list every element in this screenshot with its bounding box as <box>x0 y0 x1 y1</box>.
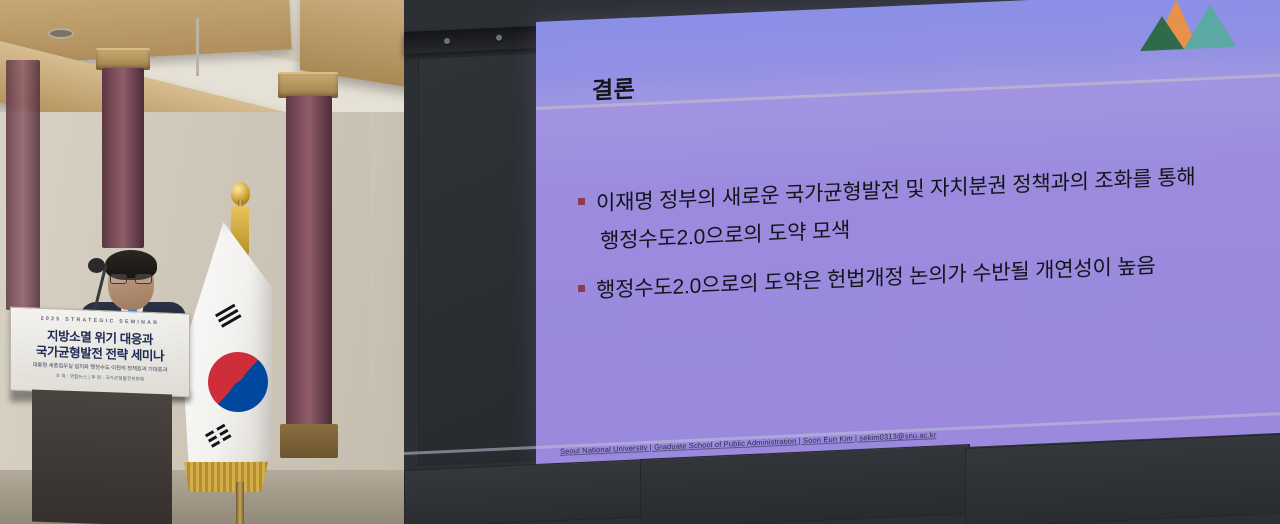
frame-screw <box>444 38 450 44</box>
ceiling-downlight <box>48 28 74 39</box>
bullet-1-text: 이재명 정부의 새로운 국가균형발전 및 자치분권 정책과의 조화를 통해 행정… <box>596 159 1196 262</box>
flag-cloth <box>182 222 272 474</box>
slide-bullet-1: 이재명 정부의 새로운 국가균형발전 및 자치분권 정책과의 조화를 통해 행정… <box>578 159 1196 263</box>
flag-stand-shaft <box>236 482 244 524</box>
slide-body: 이재명 정부의 새로운 국가균형발전 및 자치분권 정책과의 조화를 통해 행정… <box>536 77 1280 466</box>
glasses-lens-right <box>135 274 152 284</box>
bullet-marker-icon <box>578 285 585 292</box>
podium-banner: 2025 STRATEGIC SEMINAR 지방소멸 위기 대응과 국가균형발… <box>10 307 190 398</box>
wall-panel-bottom-a <box>404 459 644 524</box>
frame-screw <box>496 35 502 41</box>
glasses-bridge <box>127 278 135 280</box>
taeguk-symbol-icon <box>197 341 278 422</box>
bullet-2-line-1: 행정수도2.0으로의 도약은 헌법개정 논의가 수반될 개연성이 높음 <box>596 254 1156 302</box>
podium-body <box>32 390 172 524</box>
glasses-icon <box>110 274 152 284</box>
trigram-geon <box>215 304 243 331</box>
slide-title: 결론 <box>592 70 635 106</box>
wall-panel-bottom-b <box>640 444 970 524</box>
conference-hall-photo: 결론 이재명 정부의 새로운 국가균형발전 및 자치분권 정책과의 조화를 통해… <box>0 0 1280 524</box>
banner-host-line: 주 최 : 연합뉴스 | 후 원 : 국가균형발전위원회 <box>11 372 189 385</box>
mountain-triangles-logo <box>1132 0 1240 55</box>
podium: 2025 STRATEGIC SEMINAR 지방소멸 위기 대응과 국가균형발… <box>10 310 190 524</box>
ceiling <box>0 0 470 112</box>
column-capital-far-left <box>96 48 150 70</box>
south-korea-taegukgi <box>176 182 308 524</box>
projected-slide: 결론 이재명 정부의 새로운 국가균형발전 및 자치분권 정책과의 조화를 통해… <box>536 0 1280 466</box>
wall-panel-bottom-c <box>965 433 1280 524</box>
bullet-marker-icon <box>578 198 585 205</box>
screen-hanger-rod <box>196 18 199 76</box>
slide-canvas: 결론 이재명 정부의 새로운 국가균형발전 및 자치분권 정책과의 조화를 통해… <box>536 0 1280 466</box>
flag-fringe <box>184 462 268 492</box>
column-shaft-edge <box>6 60 40 310</box>
microphone-icon <box>88 258 105 273</box>
glasses-lens-left <box>110 274 127 284</box>
column-capital-left <box>278 72 338 98</box>
column-shaft-far-left <box>102 68 144 248</box>
trigram-gon <box>205 424 233 451</box>
